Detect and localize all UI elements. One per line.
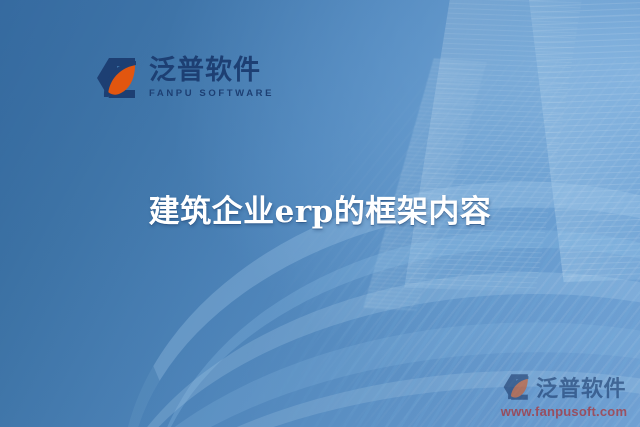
brand-name-en: FANPU SOFTWARE [149,89,274,99]
banner-image: 泛普软件 FANPU SOFTWARE 建筑企业erp的框架内容 泛普软件 ww… [0,0,640,427]
glass-tower-left [404,0,587,292]
watermark-brand-row: 泛普软件 [502,371,626,403]
brand-name-cn: 泛普软件 [149,57,274,84]
fanpu-shield-icon [95,56,141,100]
page-title: 建筑企业erp的框架内容 [0,186,640,231]
glass-tower-slim [363,58,487,311]
watermark: 泛普软件 www.fanpusoft.com [494,371,634,419]
brand-logo: 泛普软件 FANPU SOFTWARE [95,56,274,100]
fanpu-shield-icon [502,373,532,401]
watermark-url: www.fanpusoft.com [501,404,627,419]
glass-tower-right [527,0,640,282]
brand-logo-text: 泛普软件 FANPU SOFTWARE [149,57,274,99]
watermark-brand-name: 泛普软件 [536,371,626,403]
